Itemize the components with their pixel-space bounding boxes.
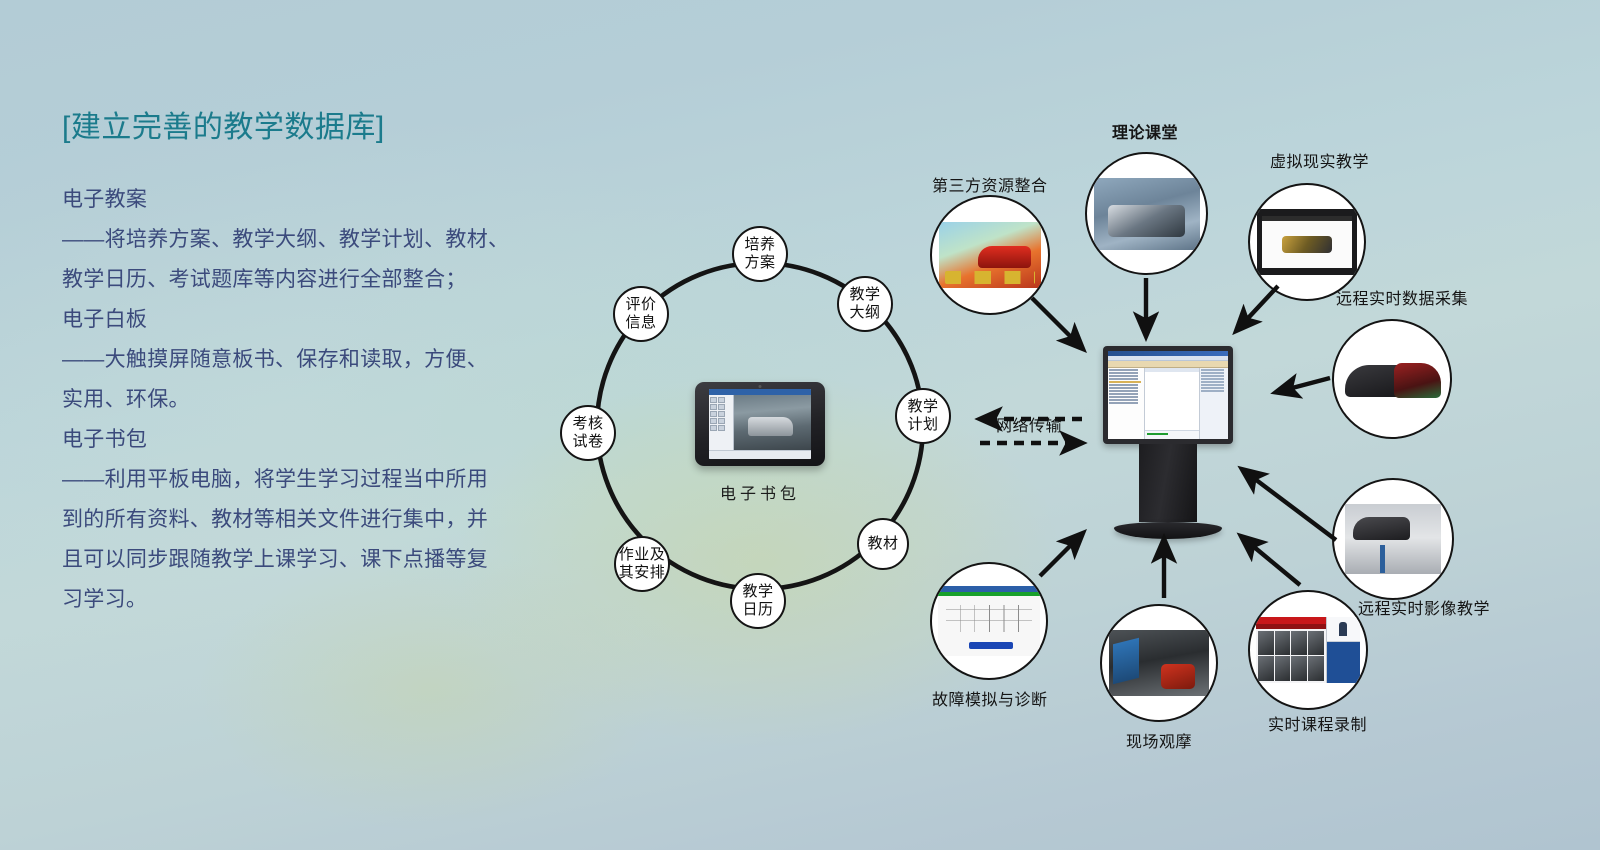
cycle-node-jiaocai[interactable]: 教材: [857, 518, 909, 570]
tablet-video-thumbnail: [734, 395, 811, 450]
paragraph-line: 习学习。: [62, 580, 582, 620]
cycle-node-label: 其安排: [619, 564, 666, 582]
kiosk-screen-bezel: [1103, 346, 1233, 444]
photo-node-third-party-resources[interactable]: [930, 195, 1050, 315]
cycle-node-label: 方案: [744, 254, 775, 272]
network-transmission-label: 网络传输: [996, 412, 1062, 436]
cycle-node-label: 日历: [742, 601, 773, 619]
photo-node-vr-teaching[interactable]: [1248, 183, 1366, 301]
kiosk-base: [1114, 522, 1222, 539]
cycle-node-label: 教材: [867, 535, 898, 553]
tablet-device: [695, 382, 825, 466]
cycle-node-jiaoxue-dagang[interactable]: 教学 大纲: [837, 276, 893, 332]
caption-remote-data: 远程实时数据采集: [1336, 285, 1468, 309]
paragraph-line: 电子白板: [62, 300, 582, 340]
cycle-node-label: 试卷: [572, 433, 603, 451]
cycle-node-zuoye-jiqianpai[interactable]: 作业及 其安排: [614, 536, 670, 592]
slide-canvas: [建立完善的教学数据库] 电子教案 ——将培养方案、教学大纲、教学计划、教材、 …: [0, 0, 1600, 850]
text-panel: [建立完善的教学数据库] 电子教案 ——将培养方案、教学大纲、教学计划、教材、 …: [62, 110, 582, 620]
paragraph-line: ——利用平板电脑，将学生学习过程当中所用: [62, 460, 582, 500]
car-advertisement-screenshot-image: [939, 222, 1041, 288]
cycle-node-pingjia-xinxi[interactable]: 评价 信息: [613, 286, 669, 342]
photo-node-onsite-observation[interactable]: [1100, 604, 1218, 722]
paragraph-line: 教学日历、考试题库等内容进行全部整合；: [62, 260, 582, 300]
cycle-node-label: 大纲: [849, 304, 880, 322]
paragraph-line: 到的所有资料、教材等相关文件进行集中，并: [62, 500, 582, 540]
kiosk-app-toolbar: [1108, 361, 1228, 368]
tablet-camera-icon: [759, 385, 762, 388]
paragraph-line: 电子书包: [62, 420, 582, 460]
cycle-node-peiyang-fangan[interactable]: 培养 方案: [732, 226, 788, 282]
car-underbody-inspection-image: [1109, 630, 1209, 696]
paragraph-line: 实用、环保。: [62, 380, 582, 420]
engine-parts-courseware-image: [1094, 178, 1200, 250]
car-on-lift-workshop-image: [1345, 504, 1441, 574]
caption-fault-simulation: 故障模拟与诊断: [932, 686, 1048, 710]
tablet-body: [709, 395, 811, 450]
kiosk-properties-pane: [1200, 368, 1228, 439]
cycle-node-label: 教学: [742, 583, 773, 601]
photo-node-remote-data[interactable]: [1332, 319, 1452, 439]
body-copy: 电子教案 ——将培养方案、教学大纲、教学计划、教材、 教学日历、考试题库等内容进…: [62, 180, 582, 620]
tablet-playbar: [709, 450, 811, 459]
vr-gearbox-software-image: [1257, 209, 1357, 275]
caption-remote-video-teaching: 远程实时影像教学: [1358, 595, 1490, 619]
page-title: [建立完善的教学数据库]: [62, 110, 582, 146]
kiosk-tree-pane: [1108, 368, 1145, 439]
photo-node-remote-video-teaching[interactable]: [1332, 478, 1454, 600]
tablet-screen: [709, 389, 811, 459]
cycle-node-label: 教学: [907, 398, 938, 416]
paragraph-line: ——大触摸屏随意板书、保存和读取，方便、: [62, 340, 582, 380]
cycle-node-label: 信息: [625, 314, 656, 332]
cycle-node-label: 作业及: [619, 546, 666, 564]
wiring-diagnostic-software-image: [938, 586, 1040, 656]
cycle-node-kaohe-shijuan[interactable]: 考核 试卷: [560, 405, 616, 461]
tablet-caption: 电子书包: [680, 480, 840, 504]
cycle-node-label: 培养: [744, 236, 775, 254]
caption-onsite-observation: 现场观摩: [1126, 728, 1192, 752]
tablet-sidebar: [709, 395, 734, 450]
cycle-node-label: 考核: [572, 415, 603, 433]
cycle-node-label: 计划: [907, 416, 938, 434]
cutaway-car-image: [1339, 345, 1445, 413]
touchscreen-kiosk: [1103, 346, 1233, 539]
paragraph-line: 且可以同步跟随教学上课学习、课下点播等复: [62, 540, 582, 580]
kiosk-stand: [1139, 444, 1197, 522]
caption-live-course-recording: 实时课程录制: [1268, 711, 1367, 735]
kiosk-document-pane: [1145, 368, 1200, 439]
cycle-node-label: 评价: [625, 296, 656, 314]
cycle-node-jiaoxue-rili[interactable]: 教学 日历: [730, 573, 786, 629]
caption-vr-teaching: 虚拟现实教学: [1270, 148, 1369, 172]
photo-node-theory-classroom[interactable]: [1085, 152, 1208, 275]
caption-third-party-resources: 第三方资源整合: [932, 172, 1048, 196]
paragraph-line: ——将培养方案、教学大纲、教学计划、教材、: [62, 220, 582, 260]
electronic-schoolbag-tablet: 电子书包: [680, 382, 840, 504]
photo-node-live-course-recording[interactable]: [1248, 590, 1368, 710]
kiosk-app-main: [1108, 368, 1228, 439]
paragraph-line: 电子教案: [62, 180, 582, 220]
kiosk-display: [1108, 351, 1228, 439]
cycle-node-label: 教学: [849, 286, 880, 304]
caption-theory-classroom: 理论课堂: [1112, 119, 1178, 143]
video-portal-website-image: [1256, 617, 1360, 683]
photo-node-fault-simulation[interactable]: [930, 562, 1048, 680]
cycle-node-jiaoxue-jihua[interactable]: 教学 计划: [895, 388, 951, 444]
